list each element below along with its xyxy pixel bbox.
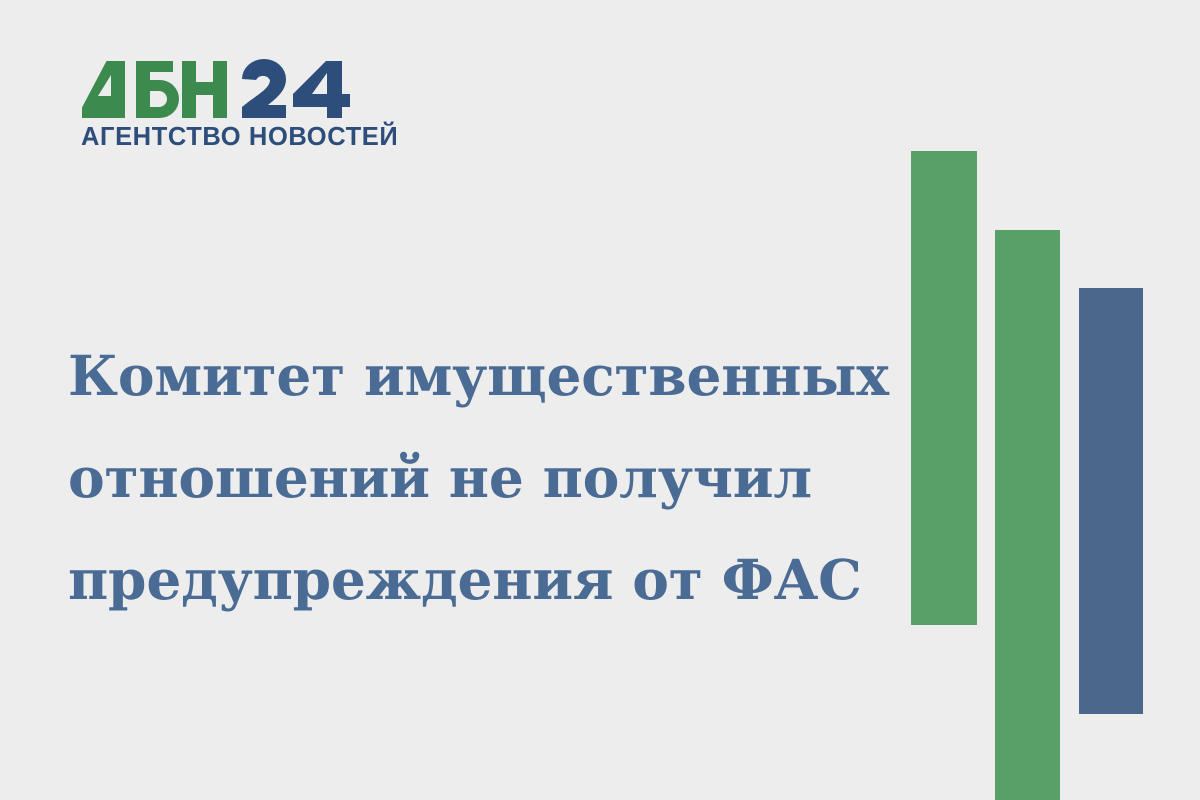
decorative-bar-2 bbox=[995, 230, 1060, 800]
logo-tagline: АГЕНТСТВО НОВОСТЕЙ bbox=[81, 124, 369, 150]
poster-canvas: АГЕНТСТВО НОВОСТЕЙ Комитет имущественных… bbox=[0, 0, 1200, 800]
headline: Комитет имущественных отношений не получ… bbox=[68, 325, 878, 631]
site-logo[interactable]: АГЕНТСТВО НОВОСТЕЙ bbox=[80, 58, 370, 158]
decorative-bar-3 bbox=[1079, 288, 1143, 714]
logo-wordmark-abn24 bbox=[80, 58, 370, 120]
headline-line-1: Комитет имущественных bbox=[68, 325, 878, 427]
headline-line-3: предупреждения от ФАС bbox=[68, 529, 878, 631]
decorative-bar-1 bbox=[911, 151, 977, 625]
headline-line-2: отношений не получил bbox=[68, 427, 878, 529]
